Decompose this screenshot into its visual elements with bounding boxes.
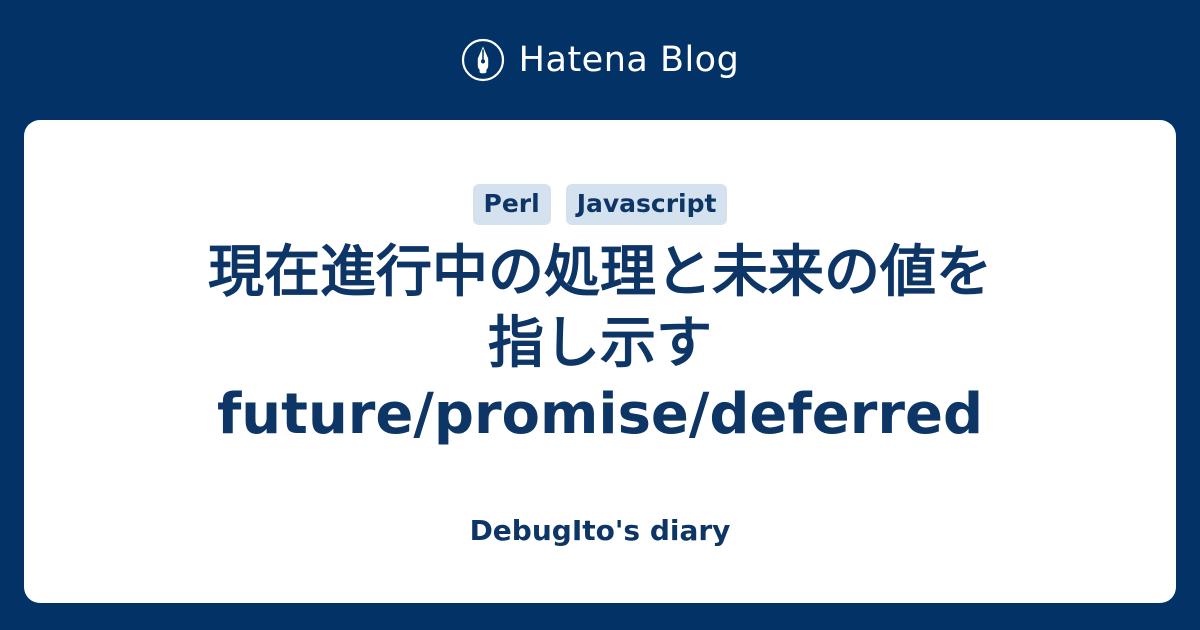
- entry-title: 現在進行中の処理と未来の値を 指し示す future/promise/defer…: [208, 237, 992, 450]
- tag-perl[interactable]: Perl: [473, 184, 551, 225]
- blog-name: DebugIto's diary: [24, 517, 1176, 545]
- og-image-canvas: Hatena Blog Perl Javascript 現在進行中の処理と未来の…: [0, 0, 1200, 630]
- entry-tag-list: Perl Javascript: [473, 184, 728, 225]
- tag-javascript[interactable]: Javascript: [566, 184, 728, 225]
- pen-nib-in-circle-icon: [461, 38, 505, 82]
- entry-card: Perl Javascript 現在進行中の処理と未来の値を 指し示す futu…: [24, 120, 1176, 603]
- entry-title-line-3: future/promise/deferred: [208, 379, 992, 450]
- hatena-blog-brand-name: Hatena Blog: [519, 43, 740, 78]
- hatena-blog-brand: Hatena Blog: [0, 0, 1200, 120]
- entry-title-line-2: 指し示す: [208, 308, 992, 379]
- entry-title-line-1: 現在進行中の処理と未来の値を: [208, 237, 992, 308]
